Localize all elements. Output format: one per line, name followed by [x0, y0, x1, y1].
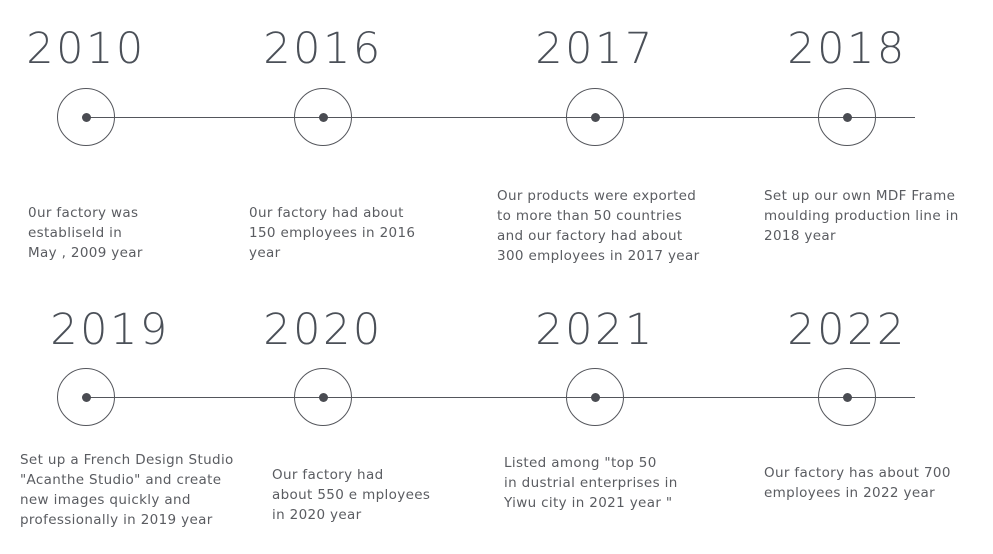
node-dot-icon	[82, 113, 91, 122]
timeline-axis-line-upper	[86, 117, 915, 118]
milestone-description-2022: Our factory has about 700 employees in 2…	[764, 463, 993, 503]
milestone-description-2010: 0ur factory was establiseld in May , 200…	[28, 203, 238, 263]
timeline-node-2020[interactable]	[294, 368, 352, 426]
milestone-description-2019: Set up a French Design Studio "Acanthe S…	[20, 450, 265, 530]
year-label-2020: 2020	[263, 305, 382, 355]
year-label-2019: 2019	[50, 305, 169, 355]
timeline-node-2021[interactable]	[566, 368, 624, 426]
node-dot-icon	[319, 393, 328, 402]
year-label-2017: 2017	[535, 24, 654, 74]
node-dot-icon	[843, 393, 852, 402]
year-label-2022: 2022	[787, 305, 906, 355]
timeline-node-2018[interactable]	[818, 88, 876, 146]
year-label-2018: 2018	[787, 24, 906, 74]
node-dot-icon	[591, 393, 600, 402]
timeline-node-2017[interactable]	[566, 88, 624, 146]
timeline-node-2016[interactable]	[294, 88, 352, 146]
year-label-2016: 2016	[263, 24, 382, 74]
node-dot-icon	[319, 113, 328, 122]
timeline-axis-line-lower	[86, 397, 915, 398]
timeline-row-lower: 2019 Set up a French Design Studio "Acan…	[0, 285, 993, 554]
milestone-description-2016: 0ur factory had about 150 employees in 2…	[249, 203, 464, 263]
year-label-2021: 2021	[535, 305, 654, 355]
milestone-description-2020: Our factory had about 550 e mployees in …	[272, 465, 497, 525]
timeline-node-2010[interactable]	[57, 88, 115, 146]
timeline-page: 2010 0ur factory was establiseld in May …	[0, 0, 993, 554]
node-dot-icon	[82, 393, 91, 402]
timeline-node-2022[interactable]	[818, 368, 876, 426]
year-label-2010: 2010	[26, 24, 145, 74]
timeline-row-upper: 2010 0ur factory was establiseld in May …	[0, 0, 993, 285]
timeline-node-2019[interactable]	[57, 368, 115, 426]
milestone-description-2017: Our products were exported to more than …	[497, 186, 732, 266]
node-dot-icon	[591, 113, 600, 122]
milestone-description-2018: Set up our own MDF Frame moulding produc…	[764, 186, 993, 246]
node-dot-icon	[843, 113, 852, 122]
milestone-description-2021: Listed among "top 50 in dustrial enterpr…	[504, 453, 739, 513]
